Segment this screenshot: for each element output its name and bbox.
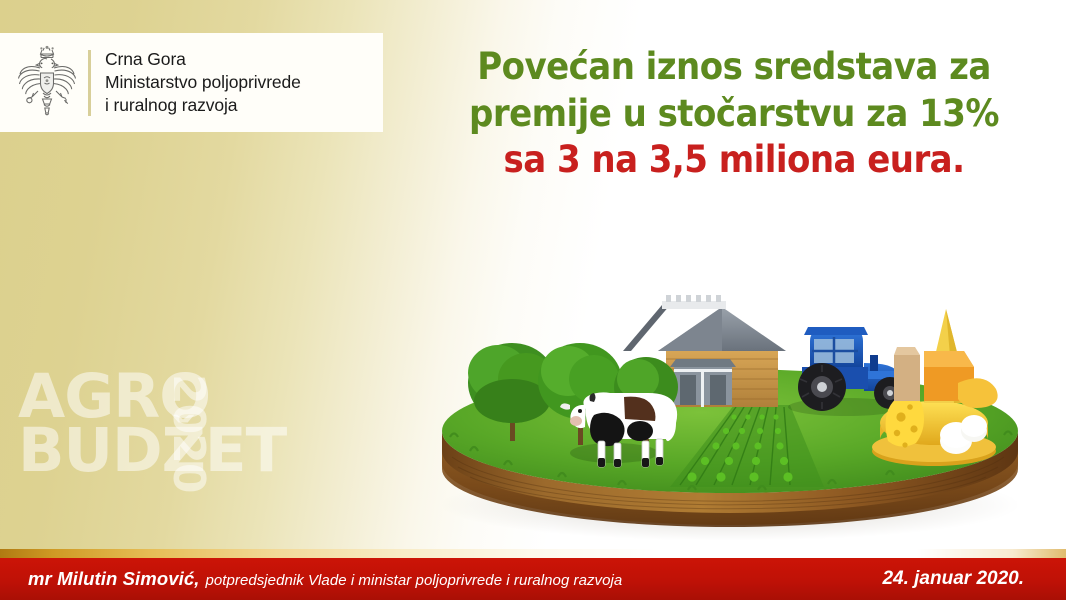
watermark-line-budzet: BUDŽET [18,426,318,476]
watermark-year: 2020 [163,374,214,492]
cheese-slice-curl [958,378,998,408]
agro-budzet-watermark: AGRO BUDŽET 2020 [18,372,318,532]
watermark-line-agro: AGRO [18,372,318,422]
ministry-line-1: Ministarstvo poljoprivrede [105,71,301,94]
ministry-line-country: Crna Gora [105,48,301,71]
tractor [788,327,906,416]
ministry-name: Crna Gora Ministarstvo poljoprivrede i r… [105,48,301,117]
ministry-logo-box: Crna Gora Ministarstvo poljoprivrede i r… [0,33,383,132]
headline-block: Povećan iznos sredstava za premije u sto… [418,44,1050,184]
speaker-credit: mr Milutin Simović, potpredsjednik Vlade… [28,568,882,590]
slide-canvas: AGRO BUDŽET 2020 [0,0,1066,600]
speaker-name: mr Milutin Simović, [28,568,200,590]
farm-island-illustration [418,255,1038,540]
gold-divider-strip [0,549,1066,558]
footer-date: 24. januar 2020. [882,568,1024,590]
cheese-block-tan [894,355,920,401]
ministry-line-2: i ruralnog razvoja [105,94,301,117]
headline-line-3: sa 3 na 3,5 miliona eura. [443,137,1024,184]
footer-bar: mr Milutin Simović, potpredsjednik Vlade… [0,558,1066,600]
montenegro-coat-of-arms-icon [14,45,80,121]
logo-divider [88,50,91,116]
speaker-title: potpredsjednik Vlade i ministar poljopri… [206,572,623,589]
headline-line-2: premije u stočarstvu za 13% [443,91,1024,138]
headline-line-1: Povećan iznos sredstava za [443,44,1024,91]
